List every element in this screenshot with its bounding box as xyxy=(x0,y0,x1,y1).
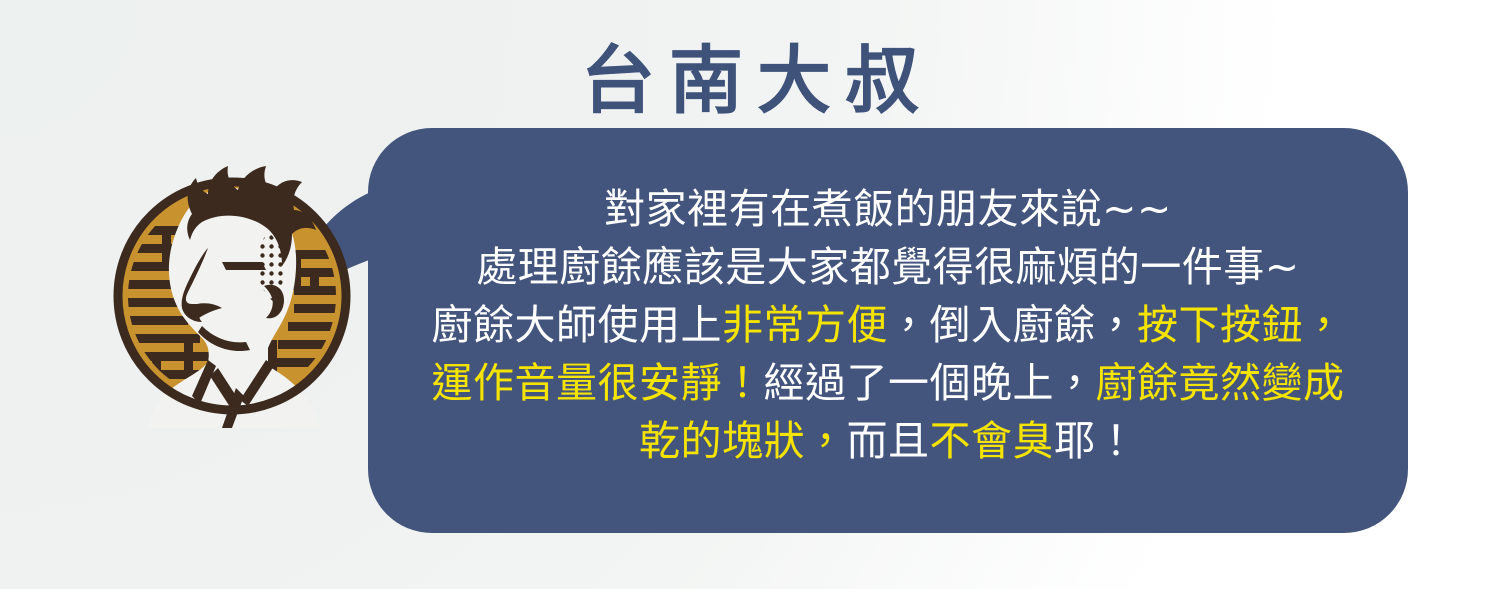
testimonial-line: 乾的塊狀，而且不會臭耶！ xyxy=(378,412,1398,470)
testimonial-line: 廚餘大師使用上非常方便，倒入廚餘，按下按鈕， xyxy=(378,296,1398,354)
testimonial-line: 對家裡有在煮飯的朋友來說~~ xyxy=(378,180,1398,238)
page-title: 台南大叔 xyxy=(0,34,1500,128)
testimonial-line: 處理廚餘應該是大家都覺得很麻煩的一件事~ xyxy=(378,238,1398,296)
testimonial-text: 對家裡有在煮飯的朋友來說~~處理廚餘應該是大家都覺得很麻煩的一件事~廚餘大師使用… xyxy=(378,180,1398,470)
testimonial-line: 運作音量很安靜！經過了一個晚上，廚餘竟然變成 xyxy=(378,354,1398,412)
testimonial-plain: 耶！ xyxy=(1054,417,1137,465)
testimonial-plain: 對家裡有在煮飯的朋友來說~~ xyxy=(604,185,1172,233)
testimonial-highlight: 非常方便 xyxy=(722,301,888,349)
avatar xyxy=(96,152,368,424)
testimonial-highlight: 運作音量很安靜！ xyxy=(432,359,764,407)
testimonial-plain: 廚餘大師使用上 xyxy=(432,301,723,349)
testimonial-highlight: 乾的塊狀， xyxy=(639,417,847,465)
testimonial-highlight: 不會臭 xyxy=(930,417,1055,465)
testimonial-highlight: 廚餘竟然變成 xyxy=(1096,359,1345,407)
testimonial-plain: 經過了一個晚上， xyxy=(764,359,1096,407)
testimonial-plain: 而且 xyxy=(847,417,930,465)
testimonial-highlight: 按下按鈕， xyxy=(1137,301,1345,349)
testimonial-plain: ，倒入廚餘， xyxy=(888,301,1137,349)
testimonial-plain: 處理廚餘應該是大家都覺得很麻煩的一件事~ xyxy=(476,243,1299,291)
testimonial-banner: 台南大叔 對家裡有在煮飯的朋友來說~~處理廚餘應該是大家都覺得很麻煩的一件事~廚… xyxy=(0,0,1500,589)
